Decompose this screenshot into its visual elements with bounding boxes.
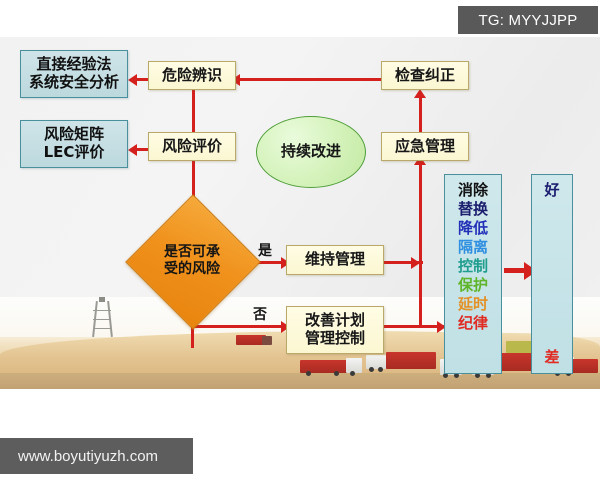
- tg-badge: TG: MYYJJPP: [458, 6, 598, 34]
- edge-label-no: 否: [253, 304, 267, 324]
- control-hierarchy-panel[interactable]: 消除 替换 降低 隔离 控制 保护 延时 纪律: [444, 174, 502, 374]
- edge-check-to-hazard: [240, 78, 385, 81]
- rating-scale-top: 好: [532, 181, 572, 200]
- hierarchy-item-protect: 保护: [445, 276, 501, 295]
- continuous-improvement-ellipse[interactable]: 持续改进: [256, 116, 366, 188]
- method-box-risk-matrix[interactable]: 风险矩阵 LEC评价: [20, 120, 128, 168]
- edge-evaluation-to-method2-arrowhead: [128, 144, 137, 156]
- url-watermark: www.boyutiyuzh.com: [0, 438, 193, 474]
- rating-scale-panel[interactable]: 好 差: [531, 174, 573, 374]
- method-box-risk-matrix-line2: LEC评价: [44, 144, 105, 162]
- decision-label: 是否可承 受的风险: [145, 214, 239, 308]
- decision-acceptable-risk[interactable]: 是否可承 受的风险: [145, 214, 239, 308]
- process-box-hazard-identification[interactable]: 危险辨识: [148, 61, 236, 90]
- decision-label-line2: 受的风险: [164, 261, 220, 279]
- hierarchy-item-eliminate: 消除: [445, 181, 501, 200]
- process-box-improvement-plan-line1: 改善计划: [305, 312, 365, 330]
- process-box-improvement-plan[interactable]: 改善计划 管理控制: [286, 306, 384, 354]
- edge-decision-no-horizontal: [191, 325, 283, 328]
- truck-1-cab: [346, 358, 362, 373]
- screenshot-root: TG: MYYJJPP: [0, 0, 600, 480]
- edge-improvement-to-hierarchy: [383, 325, 445, 328]
- hierarchy-item-delay: 延时: [445, 295, 501, 314]
- truck-2-cab: [366, 355, 386, 369]
- decision-label-line1: 是否可承: [164, 244, 220, 262]
- process-box-check-correct[interactable]: 检查纠正: [381, 61, 469, 90]
- method-box-direct-experience-line1: 直接经验法: [29, 56, 119, 74]
- flowchart-canvas: 直接经验法 系统安全分析 风险矩阵 LEC评价 危险辨识 风险评价 检查纠正 应…: [0, 37, 600, 389]
- process-box-maintain-management[interactable]: 维持管理: [286, 245, 384, 275]
- process-box-emergency-management[interactable]: 应急管理: [381, 132, 469, 161]
- truck-7: [572, 359, 598, 373]
- hierarchy-item-control: 控制: [445, 257, 501, 276]
- truck-far-cab: [262, 336, 272, 345]
- hierarchy-item-reduce: 降低: [445, 219, 501, 238]
- edge-emergency-to-check-arrowhead: [414, 89, 426, 98]
- photo-road: [0, 373, 600, 389]
- method-box-direct-experience[interactable]: 直接经验法 系统安全分析: [20, 50, 128, 98]
- edge-hierarchy-to-rating: [504, 268, 526, 273]
- hierarchy-item-substitute: 替换: [445, 200, 501, 219]
- rating-scale-bottom: 差: [532, 348, 572, 367]
- truck-1: [300, 360, 348, 373]
- edge-riser-to-emergency: [419, 165, 422, 327]
- process-box-improvement-plan-line2: 管理控制: [305, 330, 365, 348]
- hierarchy-item-isolate: 隔离: [445, 238, 501, 257]
- edge-hazard-to-method1-arrowhead: [128, 74, 137, 86]
- process-box-risk-evaluation[interactable]: 风险评价: [148, 132, 236, 161]
- method-box-risk-matrix-line1: 风险矩阵: [44, 126, 105, 144]
- hierarchy-item-discipline: 纪律: [445, 314, 501, 333]
- edge-label-yes: 是: [258, 240, 272, 260]
- truck-2: [386, 352, 436, 369]
- method-box-direct-experience-line2: 系统安全分析: [29, 74, 119, 92]
- oil-derrick-icon: [92, 301, 112, 337]
